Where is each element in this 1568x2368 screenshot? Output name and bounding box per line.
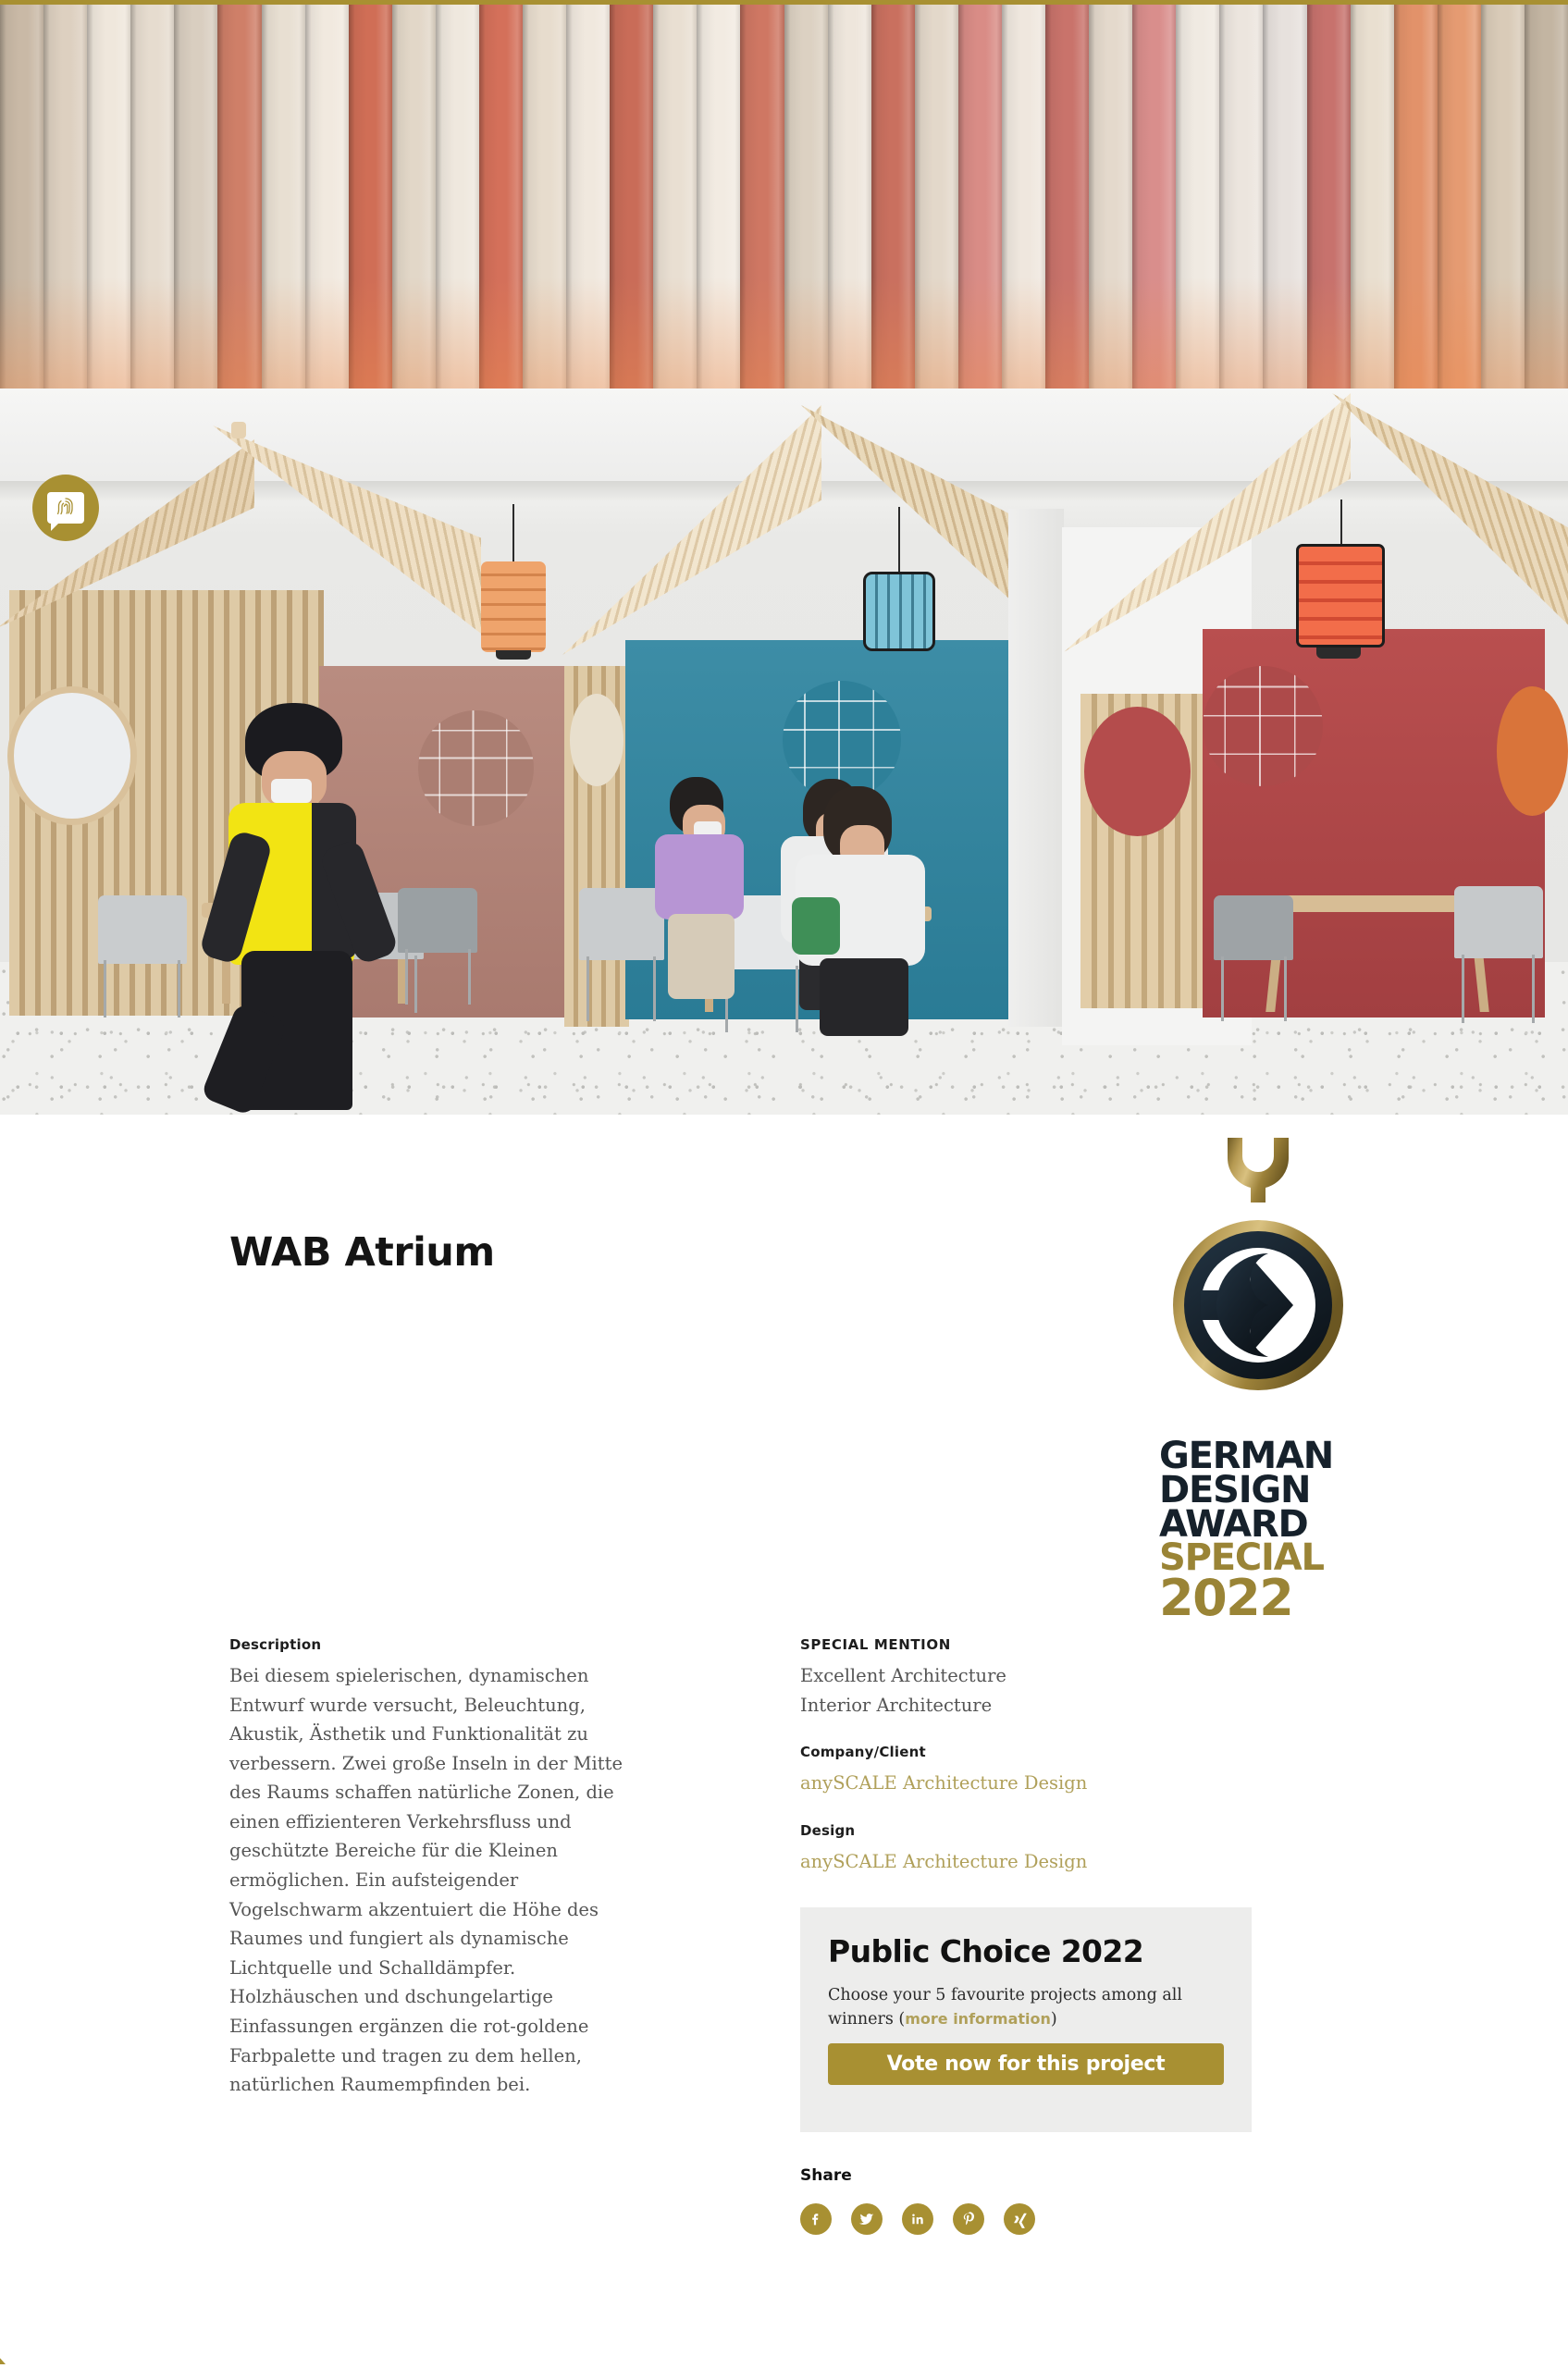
slat bbox=[740, 0, 784, 388]
facebook-icon[interactable] bbox=[800, 2203, 832, 2235]
more-information-link[interactable]: more information bbox=[905, 2010, 1051, 2028]
slat bbox=[174, 0, 218, 388]
special-mention-heading: SPECIAL MENTION bbox=[800, 1636, 1263, 1653]
share-icon-row bbox=[800, 2203, 1035, 2235]
slat bbox=[1176, 0, 1220, 388]
slat bbox=[436, 0, 480, 388]
slat bbox=[697, 0, 741, 388]
slat bbox=[610, 0, 654, 388]
company-heading: Company/Client bbox=[800, 1744, 1263, 1760]
slat bbox=[392, 0, 437, 388]
twitter-icon[interactable] bbox=[851, 2203, 883, 2235]
slat-wall-band bbox=[0, 0, 1568, 388]
description-heading: Description bbox=[229, 1636, 636, 1653]
lantern-orange bbox=[474, 504, 553, 671]
slat bbox=[1132, 0, 1177, 388]
slat bbox=[43, 0, 88, 388]
hero-image bbox=[0, 0, 1568, 1115]
vote-now-button[interactable]: Vote now for this project bbox=[828, 2043, 1224, 2085]
design-value-link[interactable]: anySCALE Architecture Design bbox=[800, 1851, 1087, 1872]
slat bbox=[349, 0, 393, 388]
share-heading: Share bbox=[800, 2166, 1035, 2185]
adult-and-child-seated bbox=[792, 786, 958, 1036]
slat bbox=[1263, 0, 1307, 388]
lantern-red bbox=[1290, 499, 1392, 684]
slat bbox=[828, 0, 872, 388]
pinterest-icon[interactable] bbox=[953, 2203, 984, 2235]
linkedin-icon[interactable] bbox=[902, 2203, 933, 2235]
slat bbox=[653, 0, 698, 388]
child-running bbox=[199, 703, 421, 1110]
slat bbox=[915, 0, 959, 388]
fingerprint-badge[interactable] bbox=[32, 475, 99, 541]
metadata-column: SPECIAL MENTION Excellent Architecture I… bbox=[800, 1636, 1263, 1876]
slat bbox=[0, 0, 44, 388]
slat bbox=[1481, 0, 1525, 388]
award-badge: GERMAN DESIGN AWARD SPECIAL 2022 bbox=[1159, 1134, 1358, 1638]
slat bbox=[1394, 0, 1438, 388]
public-choice-box: Public Choice 2022 Choose your 5 favouri… bbox=[800, 1907, 1252, 2132]
page-title: WAB Atrium bbox=[229, 1229, 495, 1276]
top-gold-rule bbox=[0, 0, 1568, 5]
slat bbox=[1089, 0, 1133, 388]
company-value-link[interactable]: anySCALE Architecture Design bbox=[800, 1772, 1087, 1794]
award-wordmark: GERMAN DESIGN AWARD SPECIAL 2022 bbox=[1159, 1439, 1358, 1622]
child-drawing bbox=[648, 777, 749, 990]
slat bbox=[87, 0, 131, 388]
lantern-blue bbox=[856, 507, 943, 683]
project-detail-page: WAB Atrium bbox=[0, 0, 1568, 2368]
fingerprint-icon bbox=[55, 496, 77, 520]
slat bbox=[523, 0, 567, 388]
design-block: Design anySCALE Architecture Design bbox=[800, 1822, 1263, 1877]
description-column: Description Bei diesem spielerischen, dy… bbox=[229, 1636, 636, 2100]
company-block: Company/Client anySCALE Architecture Des… bbox=[800, 1744, 1263, 1798]
slat bbox=[479, 0, 524, 388]
public-choice-subtitle: Choose your 5 favourite projects among a… bbox=[828, 1983, 1235, 2032]
slat bbox=[1045, 0, 1090, 388]
xing-icon[interactable] bbox=[1004, 2203, 1035, 2235]
german-design-award-medal-icon bbox=[1170, 1134, 1346, 1449]
share-section: Share bbox=[800, 2166, 1035, 2235]
slat bbox=[1002, 0, 1046, 388]
award-year: 2022 bbox=[1159, 1575, 1358, 1622]
slat bbox=[130, 0, 175, 388]
slat bbox=[217, 0, 262, 388]
public-choice-subtitle-after: ) bbox=[1051, 2010, 1057, 2029]
slat bbox=[1219, 0, 1264, 388]
slat bbox=[871, 0, 916, 388]
category-interior-architecture: Interior Architecture bbox=[800, 1691, 1263, 1720]
speech-bubble-icon bbox=[47, 492, 84, 524]
slat bbox=[1351, 0, 1395, 388]
slat bbox=[1307, 0, 1352, 388]
interior-photo bbox=[0, 388, 1568, 1115]
slat bbox=[1438, 0, 1482, 388]
slat bbox=[566, 0, 611, 388]
public-choice-title: Public Choice 2022 bbox=[828, 1933, 1143, 1969]
slat bbox=[784, 0, 829, 388]
slat bbox=[1525, 0, 1568, 388]
slat bbox=[262, 0, 306, 388]
slat bbox=[958, 0, 1003, 388]
slat bbox=[305, 0, 350, 388]
description-text: Bei diesem spielerischen, dynamischen En… bbox=[229, 1661, 636, 2100]
back-to-top-arrow[interactable] bbox=[0, 2356, 6, 2368]
design-heading: Design bbox=[800, 1822, 1263, 1839]
category-excellent-architecture: Excellent Architecture bbox=[800, 1661, 1263, 1691]
